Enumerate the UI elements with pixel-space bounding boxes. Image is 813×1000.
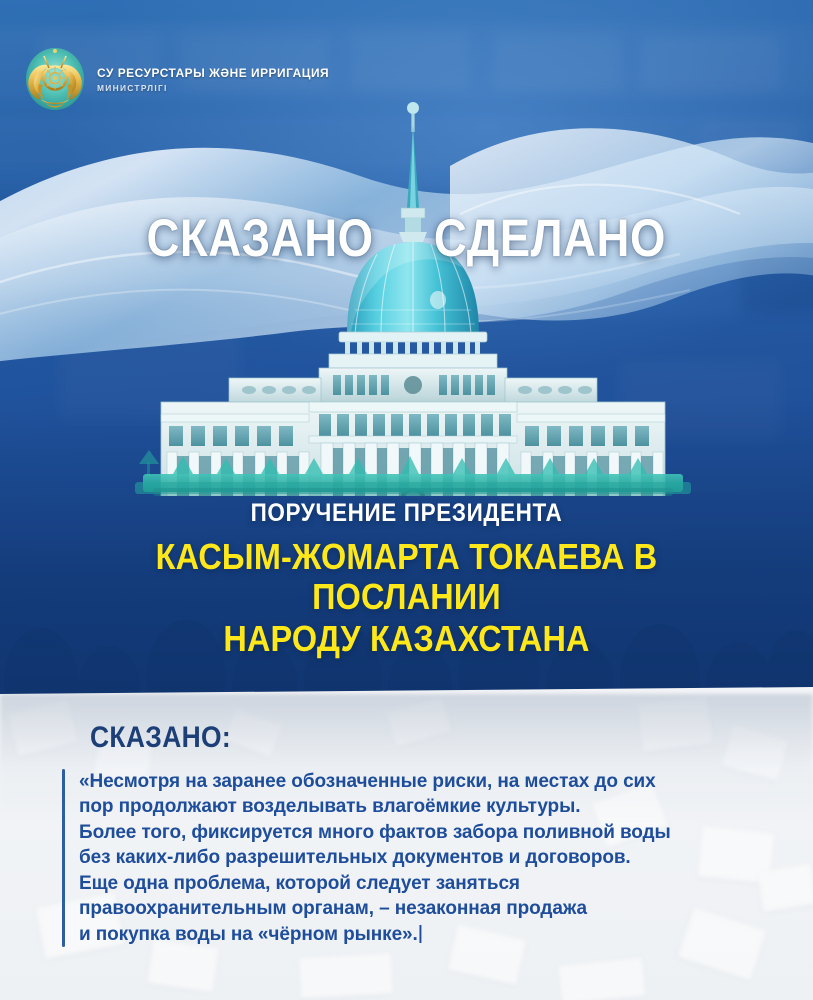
quote-accent-bar xyxy=(62,769,65,947)
ministry-name: СУ РЕСУРСТАРЫ ЖӘНЕ ИРРИГАЦИЯ МИНИСТРЛІГІ xyxy=(97,63,339,92)
infographic-poster: СКАЗАНО СДЕЛАНО ПОРУЧЕНИЕ ПРЕЗИДЕНТА КАС… xyxy=(0,0,813,1000)
quote-line: пор продолжают возделывать влагоёмкие ку… xyxy=(79,794,671,819)
quote-line: без каких-либо разрешительных документов… xyxy=(79,845,671,870)
subtitle-kicker: ПОРУЧЕНИЕ ПРЕЗИДЕНТА xyxy=(60,500,752,528)
akorda-presidential-palace xyxy=(133,96,693,496)
ministry-logo: СУ РЕСУРСТАРЫ ЖӘНЕ ИРРИГАЦИЯ МИНИСТРЛІГІ xyxy=(24,44,339,112)
quote-text: «Несмотря на заранее обозначенные риски,… xyxy=(79,769,671,947)
quote-heading: СКАЗАНО: xyxy=(90,721,231,755)
quote-line: правоохранительным органам, – незаконная… xyxy=(79,896,671,921)
text-caret xyxy=(420,925,422,943)
quote-line: Более того, фиксируется много фактов заб… xyxy=(79,820,671,845)
quote-line: Еще одна проблема, которой следует занят… xyxy=(79,871,671,896)
subtitle-main-line-2: НАРОДУ КАЗАХСТАНА xyxy=(60,619,752,659)
quote-line: и покупка воды на «чёрном рынке». xyxy=(79,923,418,945)
subtitle-block: ПОРУЧЕНИЕ ПРЕЗИДЕНТА КАСЫМ-ЖОМАРТА ТОКАЕ… xyxy=(0,500,813,659)
ministry-name-line-2: МИНИСТРЛІГІ xyxy=(97,83,339,93)
subtitle-main-line-1: КАСЫМ-ЖОМАРТА ТОКАЕВА В ПОСЛАНИИ xyxy=(60,537,752,618)
kazakhstan-state-emblem-icon xyxy=(24,44,86,112)
quote-block: «Несмотря на заранее обозначенные риски,… xyxy=(62,769,762,947)
ministry-name-line-1: СУ РЕСУРСТАРЫ ЖӘНЕ ИРРИГАЦИЯ xyxy=(97,67,329,80)
quote-last-line: и покупка воды на «чёрном рынке». xyxy=(79,922,671,947)
quote-line: «Несмотря на заранее обозначенные риски,… xyxy=(79,769,671,794)
